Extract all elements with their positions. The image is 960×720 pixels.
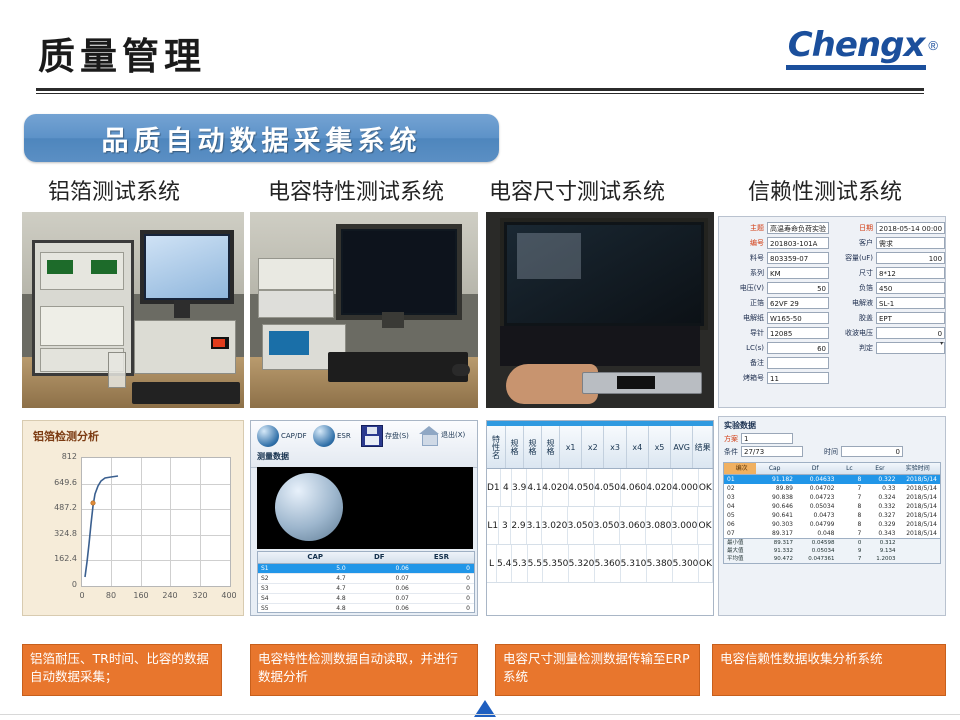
cell-result: OK <box>699 469 713 506</box>
cell-spec: 5.3 <box>512 545 527 582</box>
summary-label: 最大值 <box>724 547 756 555</box>
brand-name: Chengx <box>786 28 927 70</box>
column-heading-cap-char: 电容特性测试系统 <box>268 178 444 208</box>
cell-df: 0.06 <box>350 604 413 613</box>
field-label: 系列 <box>724 268 767 278</box>
chart-xtick: 80 <box>106 591 116 600</box>
field-number[interactable]: 编号 201803-101A <box>724 236 829 249</box>
cell-result: OK <box>699 545 713 582</box>
cell-esr: 0.343 <box>864 529 898 538</box>
cell-spec: 4 <box>501 469 512 506</box>
summary-esr: 0.312 <box>864 539 898 547</box>
field-label: 备注 <box>724 358 767 368</box>
table-header-row: 编次 Cap Df Lc Esr 实验时间 <box>724 463 940 475</box>
chart-ytick: 162.4 <box>25 554 77 563</box>
cell-index: 07 <box>724 529 756 538</box>
globe-icon <box>313 425 335 447</box>
dimension-table[interactable]: 特性名 规格 规格 规格 x1 x2 x3 x4 x5 AVG 结果 D1 4 … <box>487 426 713 583</box>
field-label: 尺寸 <box>833 268 876 278</box>
field-value[interactable]: 62VF 29 <box>767 297 829 309</box>
field-subject[interactable]: 主题 高温寿命负荷实验 <box>724 221 829 234</box>
chart-ytick: 812 <box>25 452 77 461</box>
floppy-disk-icon <box>361 425 383 447</box>
cell-spec: 2.9 <box>511 507 526 544</box>
page-title: 质量管理 <box>38 26 206 80</box>
cell-cap: 4.7 <box>285 574 350 583</box>
cell-spec: 3.1 <box>527 507 542 544</box>
cell-x5: 3.080 <box>646 507 672 544</box>
field-part-number[interactable]: 料号 803359-07 <box>724 251 829 264</box>
field-recovery-voltage[interactable]: 收波电压 0 <box>833 326 945 339</box>
cell-lc: 7 <box>838 493 865 502</box>
cell-cap: 5.0 <box>285 564 350 573</box>
field-label: 正箔 <box>724 298 767 308</box>
condition-value[interactable]: 27/73 <box>741 446 803 457</box>
field-label: 烤箱号 <box>724 373 767 383</box>
toolbar-button-exit[interactable]: 退出(X) <box>419 425 465 445</box>
column-header <box>258 552 285 563</box>
cell-esr: 0.329 <box>864 520 898 529</box>
cell-result: OK <box>698 507 713 544</box>
cell-name: L1 <box>487 507 499 544</box>
chart-xtick: 240 <box>162 591 177 600</box>
cell-avg: 5.300 <box>673 545 699 582</box>
cell-df: 0.07 <box>350 574 413 583</box>
caption-reliability: 电容信赖性数据收集分析系统 <box>712 644 946 696</box>
field-label: 日期 <box>833 223 876 233</box>
chart-line-series <box>82 458 230 586</box>
table-row[interactable]: 07 89.317 0.048 7 0.343 2018/5/14 <box>724 529 940 538</box>
field-capacitance[interactable]: 容量(uF) 100 <box>833 251 945 264</box>
time-value[interactable]: 0 <box>841 446 903 457</box>
table-row[interactable]: 02 89.89 0.04702 7 0.33 2018/5/14 <box>724 484 940 493</box>
chart-title: 铝箔检测分析 <box>33 428 99 444</box>
cell-time: 2018/5/14 <box>899 502 941 511</box>
cell-esr: 0 <box>413 604 474 613</box>
cell-x3: 4.050 <box>595 469 621 506</box>
summary-cap: 90.472 <box>756 555 796 563</box>
chart-ytick: 649.6 <box>25 478 77 487</box>
chart-xtick: 320 <box>192 591 207 600</box>
table-row[interactable]: S3 4.7 0.06 0 <box>258 584 474 594</box>
photo-caliper-measurement <box>486 212 714 408</box>
cell-time: 2018/5/14 <box>899 511 941 520</box>
cell-spec: 5.4 <box>497 545 512 582</box>
field-value[interactable]: 50 <box>767 282 829 294</box>
cell-name: D1 <box>487 469 501 506</box>
cell-lc: 7 <box>838 484 865 493</box>
column-header: 规格 <box>524 426 542 468</box>
cell-esr: 0 <box>413 574 474 583</box>
column-header: x3 <box>604 426 626 468</box>
cell-lc: 8 <box>838 511 865 520</box>
cell-lc: 7 <box>838 529 865 538</box>
cell-df: 0.05034 <box>796 502 838 511</box>
cell-esr: 0 <box>413 584 474 593</box>
table-row[interactable]: D1 4 3.9 4.1 4.020 4.050 4.050 4.060 4.0… <box>487 469 713 507</box>
field-label: 胶盖 <box>833 313 876 323</box>
chart-xtick: 400 <box>221 591 236 600</box>
field-voltage[interactable]: 电压(V) 50 <box>724 281 829 294</box>
cell-time: 2018/5/14 <box>899 475 941 484</box>
cell-index: 02 <box>724 484 756 493</box>
summary-esr: 1.2003 <box>864 555 898 563</box>
experiment-data-panel[interactable]: 实验数据 方案 1 条件 27/73 时间 0 编次 Cap Df Lc Esr… <box>718 416 946 616</box>
toolbar-button-capdf[interactable]: CAP/DF <box>257 425 307 447</box>
field-value[interactable]: 60 <box>767 342 829 354</box>
field-value[interactable]: 450 <box>876 282 945 294</box>
cell-index: 05 <box>724 511 756 520</box>
cell-index: S5 <box>258 604 285 613</box>
field-value[interactable]: 100 <box>876 252 945 264</box>
reliability-right-column: 日期 2018-05-14 00:00 客户 需求 容量(uF) 100 尺寸 … <box>833 221 945 386</box>
field-label: 容量(uF) <box>833 253 876 263</box>
cell-cap: 90.646 <box>756 502 796 511</box>
column-header: 规格 <box>542 426 560 468</box>
globe-icon <box>257 425 279 447</box>
cell-cap: 90.838 <box>756 493 796 502</box>
column-header: Lc <box>838 463 865 474</box>
field-value[interactable]: 需求 <box>876 237 945 249</box>
reliability-left-column: 主题 高温寿命负荷实验 编号 201803-101A 料号 803359-07 … <box>724 221 829 386</box>
toolbar-button-save[interactable]: 存盘(S) <box>361 425 409 447</box>
cell-cap: 89.317 <box>756 529 796 538</box>
field-label: LC(s) <box>724 344 767 352</box>
cell-x4: 4.060 <box>621 469 647 506</box>
cell-index: 06 <box>724 520 756 529</box>
slide-header: 质量管理 Chengx® <box>0 0 960 100</box>
toolbar-label: ESR <box>337 432 351 440</box>
cell-name: L <box>487 545 497 582</box>
footer-divider <box>0 714 960 715</box>
table-row[interactable]: 01 91.182 0.04633 8 0.322 2018/5/14 <box>724 475 940 484</box>
table-row[interactable]: 04 90.646 0.05034 8 0.332 2018/5/14 <box>724 502 940 511</box>
summary-df: 0.047361 <box>796 555 838 563</box>
field-lead-wire[interactable]: 导针 12085 <box>724 326 829 339</box>
cell-avg: 3.000 <box>672 507 698 544</box>
column-header: x5 <box>649 426 671 468</box>
field-value[interactable]: 高温寿命负荷实验 <box>767 222 829 234</box>
chart-plot-area <box>81 457 231 587</box>
field-oven-number[interactable]: 烤箱号 11 <box>724 371 829 384</box>
banner-title: 品质自动数据采集系统 <box>24 114 499 162</box>
cell-x4: 3.060 <box>620 507 646 544</box>
table-row[interactable]: S2 4.7 0.07 0 <box>258 574 474 584</box>
column-heading-cap-dim: 电容尺寸测试系统 <box>489 178 665 208</box>
column-header: x2 <box>582 426 604 468</box>
chart-xtick: 160 <box>133 591 148 600</box>
field-value[interactable]: 201803-101A <box>767 237 829 249</box>
cell-index: S1 <box>258 564 285 573</box>
cell-cap: 4.8 <box>285 594 350 603</box>
cell-df: 0.06 <box>350 564 413 573</box>
condition-and-time[interactable]: 条件 27/73 时间 0 <box>724 446 940 457</box>
photo-capacitor-characteristic-bench <box>250 212 478 408</box>
cell-time: 2018/5/14 <box>899 529 941 538</box>
cell-x3: 3.050 <box>594 507 620 544</box>
condition-label: 条件 <box>724 447 738 457</box>
chart-xtick: 0 <box>79 591 84 600</box>
table-row[interactable]: S5 4.8 0.06 0 <box>258 604 474 613</box>
cell-x5: 4.020 <box>647 469 673 506</box>
table-row[interactable]: L1 3 2.9 3.1 3.020 3.050 3.050 3.060 3.0… <box>487 507 713 545</box>
cell-x2: 3.050 <box>568 507 594 544</box>
cell-index: S3 <box>258 584 285 593</box>
cell-lc: 8 <box>838 520 865 529</box>
cell-x1: 5.350 <box>543 545 569 582</box>
cell-df: 0.07 <box>350 594 413 603</box>
column-heading-foil: 铝箔测试系统 <box>48 178 180 208</box>
summary-lc: 0 <box>838 539 865 547</box>
chart-marker-point <box>91 501 95 505</box>
field-value[interactable]: KM <box>767 267 829 279</box>
caption-cap-dim: 电容尺寸测量检测数据传输至ERP系统 <box>495 644 700 696</box>
photo-foil-test-bench <box>22 212 244 408</box>
field-value[interactable]: W165-50 <box>767 312 829 324</box>
field-value[interactable]: 12085 <box>767 327 829 339</box>
column-header: x4 <box>627 426 649 468</box>
cell-cap: 90.303 <box>756 520 796 529</box>
home-exit-icon <box>419 425 439 445</box>
cell-esr: 0.327 <box>864 511 898 520</box>
scheme-label: 方案 <box>724 434 738 444</box>
field-value[interactable]: 8*12 <box>876 267 945 279</box>
field-label: 负箔 <box>833 283 876 293</box>
capsw-visualization-canvas <box>257 467 473 549</box>
network-globe-icon <box>275 473 343 541</box>
column-header: Df <box>796 463 838 474</box>
cell-index: 04 <box>724 502 756 511</box>
field-series[interactable]: 系列 KM <box>724 266 829 279</box>
column-header: DF <box>350 552 413 563</box>
cell-df: 0.04702 <box>796 484 838 493</box>
header-divider-thin <box>36 93 924 94</box>
cell-spec: 3 <box>499 507 511 544</box>
panel-title: 实验数据 <box>719 417 945 433</box>
field-label: 导针 <box>724 328 767 338</box>
cell-df: 0.0473 <box>796 511 838 520</box>
field-label: 主题 <box>724 223 767 233</box>
cell-x2: 4.050 <box>569 469 595 506</box>
cell-df: 0.04723 <box>796 493 838 502</box>
chart-ytick: 324.8 <box>25 529 77 538</box>
field-label: 收波电压 <box>833 328 876 338</box>
cell-x2: 5.320 <box>569 545 595 582</box>
summary-cap: 91.332 <box>756 547 796 555</box>
banner: 品质自动数据采集系统 <box>24 114 499 162</box>
scheme-value[interactable]: 1 <box>741 433 793 444</box>
field-separator-paper[interactable]: 电解纸 W165-50 <box>724 311 829 324</box>
summary-esr: 9.134 <box>864 547 898 555</box>
cell-cap: 4.8 <box>285 604 350 613</box>
field-value[interactable] <box>767 357 829 369</box>
cell-index: 03 <box>724 493 756 502</box>
field-label: 编号 <box>724 238 767 248</box>
column-header: Esr <box>864 463 898 474</box>
column-header: 编次 <box>724 463 756 474</box>
table-header-row: 特性名 规格 规格 规格 x1 x2 x3 x4 x5 AVG 结果 <box>487 426 713 469</box>
cell-avg: 4.000 <box>673 469 699 506</box>
cell-time: 2018/5/14 <box>899 520 941 529</box>
column-header: 特性名 <box>487 426 506 468</box>
field-remark[interactable]: 备注 <box>724 356 829 369</box>
field-cathode-foil[interactable]: 负箔 450 <box>833 281 945 294</box>
table-row[interactable]: 05 90.641 0.0473 8 0.327 2018/5/14 <box>724 511 940 520</box>
column-heading-reliability: 信赖性测试系统 <box>748 178 902 208</box>
cell-df: 0.04633 <box>796 475 838 484</box>
summary-rows: 最小值 89.317 0.04598 0 0.312 最大值 91.332 0.… <box>724 538 940 563</box>
cell-cap: 4.7 <box>285 584 350 593</box>
field-value[interactable] <box>876 342 945 354</box>
toolbar-label: CAP/DF <box>281 432 307 440</box>
cell-x3: 5.360 <box>595 545 621 582</box>
toolbar-label: 存盘(S) <box>385 431 409 441</box>
table-header-row: CAP DF ESR <box>258 552 474 564</box>
field-label: 料号 <box>724 253 767 263</box>
summary-row-max: 最大值 91.332 0.05034 9 9.134 <box>724 547 940 555</box>
chart-ytick: 487.2 <box>25 503 77 512</box>
field-size[interactable]: 尺寸 8*12 <box>833 266 945 279</box>
cell-esr: 0.324 <box>864 493 898 502</box>
field-value[interactable]: 2018-05-14 00:00 <box>876 222 945 234</box>
summary-label: 最小值 <box>724 539 756 547</box>
cell-x1: 4.020 <box>543 469 569 506</box>
column-header: CAP <box>285 552 350 563</box>
time-label: 时间 <box>824 447 838 457</box>
cell-lc: 8 <box>838 475 865 484</box>
dimension-measurement-panel[interactable]: 特性名 规格 规格 规格 x1 x2 x3 x4 x5 AVG 结果 D1 4 … <box>486 420 714 616</box>
column-header: 实验时间 <box>899 463 941 474</box>
summary-row-avg: 平均值 90.472 0.047361 7 1.2003 <box>724 555 940 563</box>
experiment-data-table[interactable]: 编次 Cap Df Lc Esr 实验时间 01 91.182 0.04633 … <box>723 462 941 564</box>
cell-esr: 0.322 <box>864 475 898 484</box>
cell-spec: 3.9 <box>512 469 527 506</box>
cell-cap: 89.89 <box>756 484 796 493</box>
caption-cap-char: 电容特性检测数据自动读取，并进行数据分析 <box>250 644 478 696</box>
field-value[interactable]: 0 <box>876 327 945 339</box>
registered-mark-icon: ® <box>928 38 938 53</box>
field-electrolyte[interactable]: 电解液 SL-1 <box>833 296 945 309</box>
capsw-section-label: 测量数据 <box>257 451 289 462</box>
cell-cap: 91.182 <box>756 475 796 484</box>
field-label: 客户 <box>833 238 876 248</box>
cell-x4: 5.310 <box>621 545 647 582</box>
table-row[interactable]: L 5.4 5.3 5.5 5.350 5.320 5.360 5.310 5.… <box>487 545 713 583</box>
cell-time: 2018/5/14 <box>899 484 941 493</box>
cell-x5: 5.380 <box>647 545 673 582</box>
cell-esr: 0.332 <box>864 502 898 511</box>
toolbar-button-esr[interactable]: ESR <box>313 425 351 447</box>
field-value[interactable]: 803359-07 <box>767 252 829 264</box>
table-row[interactable]: 03 90.838 0.04723 7 0.324 2018/5/14 <box>724 493 940 502</box>
foil-analysis-chart: 铝箔检测分析 812 649.6 487.2 324.8 162.4 0 0 8… <box>22 420 244 616</box>
field-value[interactable]: SL-1 <box>876 297 945 309</box>
field-value[interactable]: 11 <box>767 372 829 384</box>
table-row[interactable]: S1 5.0 0.06 0 <box>258 564 474 574</box>
cell-x1: 3.020 <box>542 507 568 544</box>
field-date[interactable]: 日期 2018-05-14 00:00 <box>833 221 945 234</box>
cell-time: 2018/5/14 <box>899 493 941 502</box>
field-label: 电解液 <box>833 298 876 308</box>
cell-esr: 0 <box>413 594 474 603</box>
cell-df: 0.048 <box>796 529 838 538</box>
brand-logo: Chengx® <box>786 28 938 70</box>
column-header: AVG <box>671 426 693 468</box>
summary-df: 0.05034 <box>796 547 838 555</box>
field-label: 电压(V) <box>724 283 767 293</box>
column-header: 规格 <box>506 426 524 468</box>
field-label: 电解纸 <box>724 313 767 323</box>
table-row[interactable]: S4 4.8 0.07 0 <box>258 594 474 604</box>
summary-row-min: 最小值 89.317 0.04598 0 0.312 <box>724 539 940 547</box>
cell-df: 0.06 <box>350 584 413 593</box>
cell-cap: 90.641 <box>756 511 796 520</box>
cell-index: 01 <box>724 475 756 484</box>
column-header: Cap <box>756 463 796 474</box>
summary-lc: 7 <box>838 555 865 563</box>
cell-lc: 8 <box>838 502 865 511</box>
chart-ytick: 0 <box>25 580 77 589</box>
column-header: 结果 <box>693 426 713 468</box>
capacitor-measurement-window[interactable]: CAP/DF ESR 存盘(S) 退出(X) 测量数据 CAP DF ESR S… <box>250 420 478 616</box>
field-customer[interactable]: 客户 需求 <box>833 236 945 249</box>
column-header: x1 <box>560 426 582 468</box>
field-label: 判定 <box>833 343 876 353</box>
experiment-controls: 方案 1 条件 27/73 时间 0 <box>719 433 945 462</box>
toolbar-label: 退出(X) <box>441 430 465 440</box>
capsw-measurement-table[interactable]: CAP DF ESR S1 5.0 0.06 0 S2 4.7 0.07 0 S… <box>257 551 475 613</box>
cell-index: S2 <box>258 574 285 583</box>
cell-spec: 5.5 <box>528 545 543 582</box>
cell-spec: 4.1 <box>527 469 542 506</box>
summary-cap: 89.317 <box>756 539 796 547</box>
summary-lc: 9 <box>838 547 865 555</box>
caption-foil: 铝箔耐压、TR时间、比容的数据自动数据采集； <box>22 644 222 696</box>
summary-label: 平均值 <box>724 555 756 563</box>
reliability-form-panel[interactable]: 主题 高温寿命负荷实验 编号 201803-101A 料号 803359-07 … <box>718 216 946 408</box>
field-anode-foil[interactable]: 正箔 62VF 29 <box>724 296 829 309</box>
field-judgement[interactable]: 判定 <box>833 341 945 354</box>
column-header: ESR <box>413 552 474 563</box>
field-lc-seconds[interactable]: LC(s) 60 <box>724 341 829 354</box>
cell-index: S4 <box>258 594 285 603</box>
cell-esr: 0 <box>413 564 474 573</box>
summary-df: 0.04598 <box>796 539 838 547</box>
scheme-selector[interactable]: 方案 1 <box>724 433 940 444</box>
cell-esr: 0.33 <box>864 484 898 493</box>
cell-df: 0.04799 <box>796 520 838 529</box>
field-rubber-cap[interactable]: 胶盖 EPT <box>833 311 945 324</box>
table-row[interactable]: 06 90.303 0.04799 8 0.329 2018/5/14 <box>724 520 940 529</box>
field-value[interactable]: EPT <box>876 312 945 324</box>
header-divider-thick <box>36 88 924 91</box>
